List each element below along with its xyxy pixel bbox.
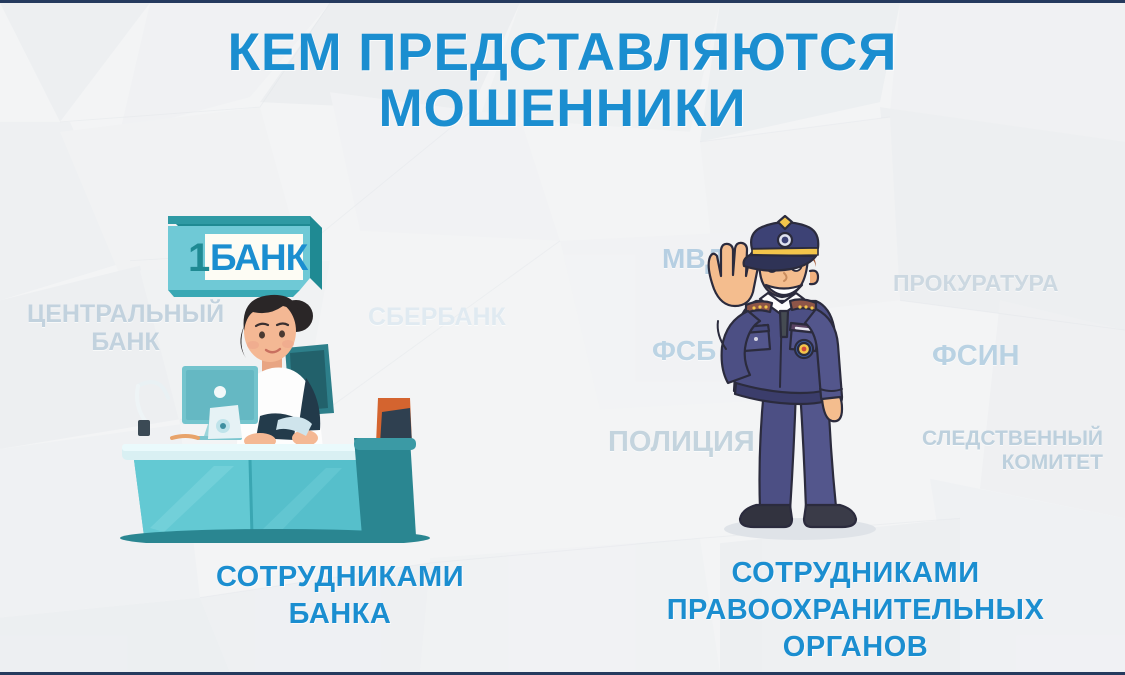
reception-desk [120, 438, 430, 543]
ghost-label-fsin: ФСИН [932, 340, 1019, 372]
bank-teller-illustration: 1 БАНК [110, 198, 470, 543]
title-line-2: МОШЕННИКИ [0, 81, 1125, 137]
bank-sign: 1 БАНК [168, 216, 322, 297]
page-title: КЕМ ПРЕДСТАВЛЯЮТСЯ МОШЕННИКИ [0, 25, 1125, 137]
infographic-poster: КЕМ ПРЕДСТАВЛЯЮТСЯ МОШЕННИКИ ЦЕНТРАЛЬНЫЙ… [0, 0, 1125, 675]
desk-lamp [137, 382, 168, 436]
title-line-1: КЕМ ПРЕДСТАВЛЯЮТСЯ [0, 25, 1125, 81]
svg-text:1: 1 [188, 236, 210, 280]
orange-folder [376, 398, 412, 444]
desk-pen [172, 436, 198, 438]
desk-tablet [208, 405, 242, 439]
svg-text:БАНК: БАНК [210, 237, 309, 278]
caption-law-enforcement: СОТРУДНИКАМИ ПРАВООХРАНИТЕЛЬНЫХ ОРГАНОВ [588, 555, 1123, 666]
police-officer-illustration [660, 193, 930, 543]
caption-bank-employees: СОТРУДНИКАМИ БАНКА [110, 559, 570, 633]
